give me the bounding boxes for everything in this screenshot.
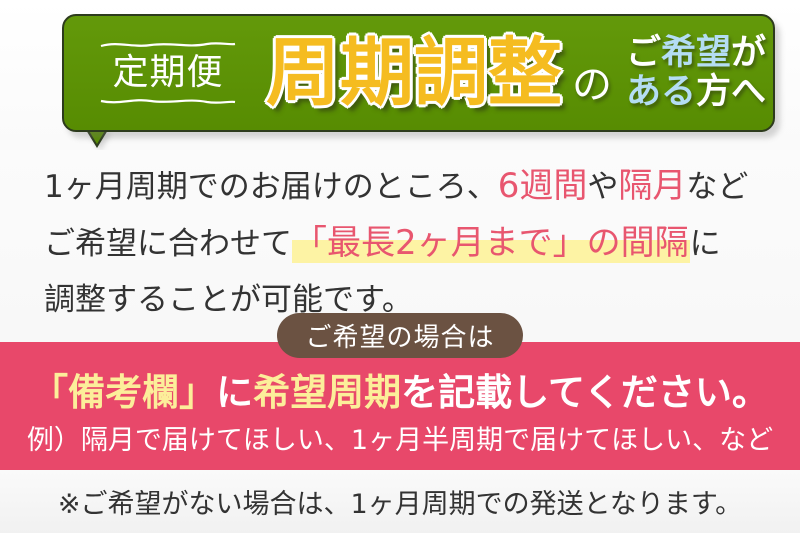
header-subtitle-line1-part3: が xyxy=(731,33,766,73)
wave-line-bottom-icon xyxy=(99,97,237,106)
instruction-main-segment-a: 「備考欄」 xyxy=(31,371,216,414)
instruction-main-text: 「備考欄」に希望周期を記載してください。 xyxy=(0,362,800,416)
header-subtitle-line2: ある方へ xyxy=(626,73,766,112)
subscription-badge-label: 定期便 xyxy=(112,49,223,97)
description-text: 1ヶ月周期でのお届けのところ、6週間や隔月など ご希望に合わせて「最長2ヶ月まで… xyxy=(44,158,764,328)
header-subtitle-line1-part1: ご xyxy=(626,33,661,73)
description-line1-segment-d: 隔月 xyxy=(618,166,686,206)
header-green-bubble: 定期便 周期調整 の ご希望が ある方へ xyxy=(62,14,775,132)
header-subtitle: ご希望が ある方へ xyxy=(626,34,766,112)
description-line-1: 1ヶ月周期でのお届けのところ、6週間や隔月など xyxy=(44,158,764,215)
header-title: 周期調整 の xyxy=(266,36,612,110)
description-line1-segment-a: 1ヶ月周期でのお届けのところ、 xyxy=(44,169,498,205)
header-subtitle-line2-part1: ある xyxy=(626,72,696,112)
instruction-main-segment-d: を記載してください。 xyxy=(401,371,769,414)
instruction-example-text: 例）隔月で届けてほしい、1ヶ月半周期で届けてほしい、など xyxy=(0,418,800,457)
description-line2-highlight: 「最長2ヶ月まで」の間隔 xyxy=(292,223,690,263)
header-subtitle-line2-part2: 方へ xyxy=(696,72,766,112)
subscription-badge: 定期便 xyxy=(92,40,244,106)
instruction-main-segment-c: 希望周期 xyxy=(253,371,401,414)
header-title-particle: の xyxy=(572,65,612,105)
footnote-zone: ※ご希望がない場合は、1ヶ月周期での発送となります。 xyxy=(0,470,800,533)
header-content-row: 定期便 周期調整 の ご希望が ある方へ xyxy=(64,16,773,130)
instruction-band: 「備考欄」に希望周期を記載してください。 例）隔月で届けてほしい、1ヶ月半周期で… xyxy=(0,342,800,470)
promo-banner: 定期便 周期調整 の ご希望が ある方へ xyxy=(0,0,800,533)
request-case-pill-label: ご希望の場合は xyxy=(305,317,494,354)
header-subtitle-line1-part2: 希望 xyxy=(661,33,731,73)
request-case-pill: ご希望の場合は xyxy=(277,313,523,358)
description-line1-segment-b: 6週間 xyxy=(498,166,588,206)
description-line1-segment-c: や xyxy=(587,169,618,205)
description-line-2: ご希望に合わせて「最長2ヶ月まで」の間隔に xyxy=(44,215,764,272)
description-line1-segment-e: など xyxy=(686,169,748,205)
wave-line-top-icon xyxy=(99,40,237,49)
header-zone: 定期便 周期調整 の ご希望が ある方へ xyxy=(0,0,800,150)
description-line2-segment-c: に xyxy=(690,226,721,262)
header-subtitle-line1: ご希望が xyxy=(626,34,766,73)
footnote-text: ※ご希望がない場合は、1ヶ月周期での発送となります。 xyxy=(0,482,800,521)
instruction-main-segment-b: に xyxy=(216,371,253,414)
description-line2-segment-a: ご希望に合わせて xyxy=(44,226,292,262)
header-title-main: 周期調整 xyxy=(266,36,562,110)
